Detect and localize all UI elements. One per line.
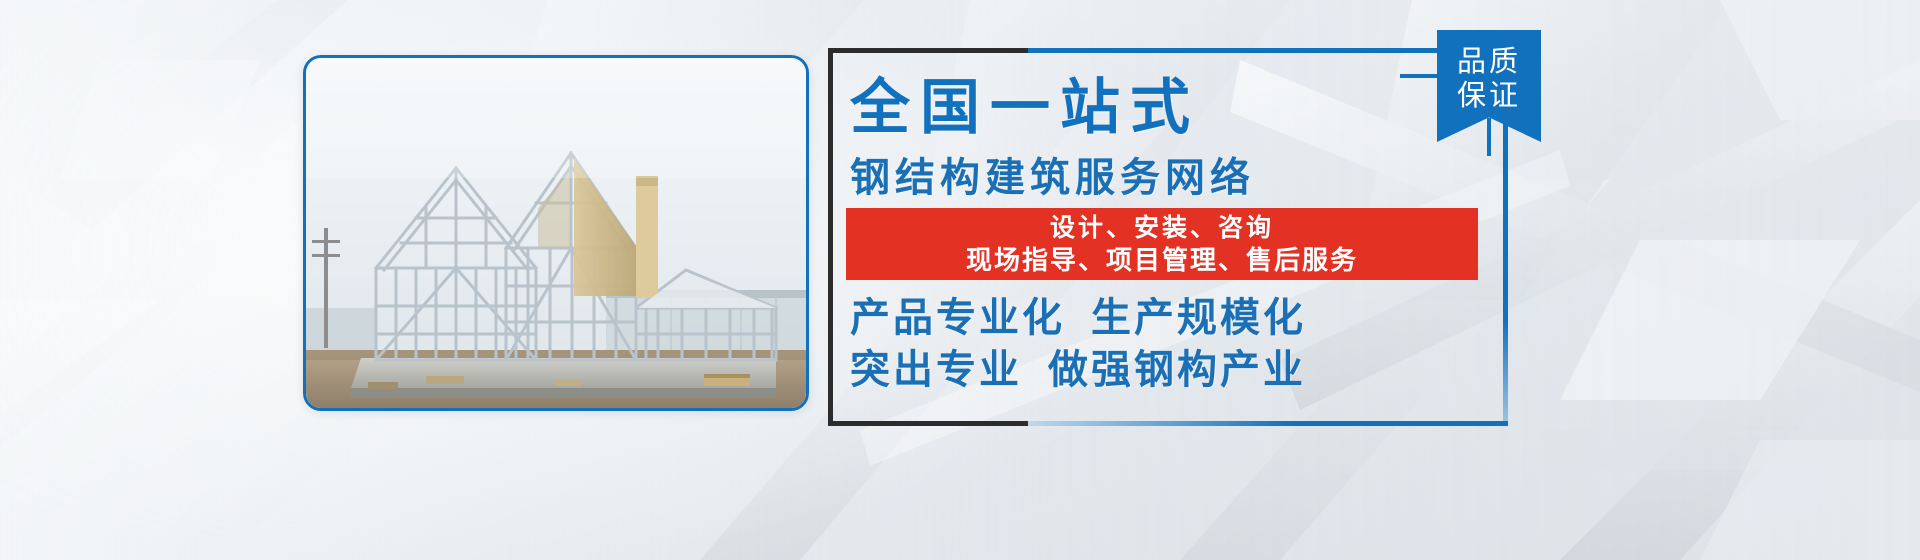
slogan-1-part-b: 生产规模化 <box>1091 296 1306 340</box>
slogan-1-part-a: 产品专业化 <box>850 296 1065 340</box>
services-line-2: 现场指导、项目管理、售后服务 <box>966 245 1358 275</box>
badge-connector-tail <box>1487 118 1491 156</box>
slogan-line-1: 产品专业化生产规模化 <box>850 296 1306 340</box>
slogan-2-part-b: 做强钢构产业 <box>1048 348 1306 392</box>
services-red-band: 设计、安装、咨询 现场指导、项目管理、售后服务 <box>846 208 1478 280</box>
badge-line-2: 保证 <box>1457 79 1521 113</box>
slogan-2-part-a: 突出专业 <box>850 348 1022 392</box>
headline: 全国一站式 <box>850 78 1200 138</box>
subheadline: 钢结构建筑服务网络 <box>850 158 1255 198</box>
promo-banner: 全国一站式 钢结构建筑服务网络 设计、安装、咨询 现场指导、项目管理、售后服务 … <box>0 0 1920 560</box>
photo-card <box>303 55 809 411</box>
badge-line-1: 品质 <box>1457 45 1521 79</box>
slogan-line-2: 突出专业做强钢构产业 <box>850 348 1306 392</box>
services-line-1: 设计、安装、咨询 <box>1050 213 1274 243</box>
badge-connector-arm <box>1400 74 1440 78</box>
marketing-copy-block: 全国一站式 钢结构建筑服务网络 设计、安装、咨询 现场指导、项目管理、售后服务 … <box>828 48 1508 426</box>
